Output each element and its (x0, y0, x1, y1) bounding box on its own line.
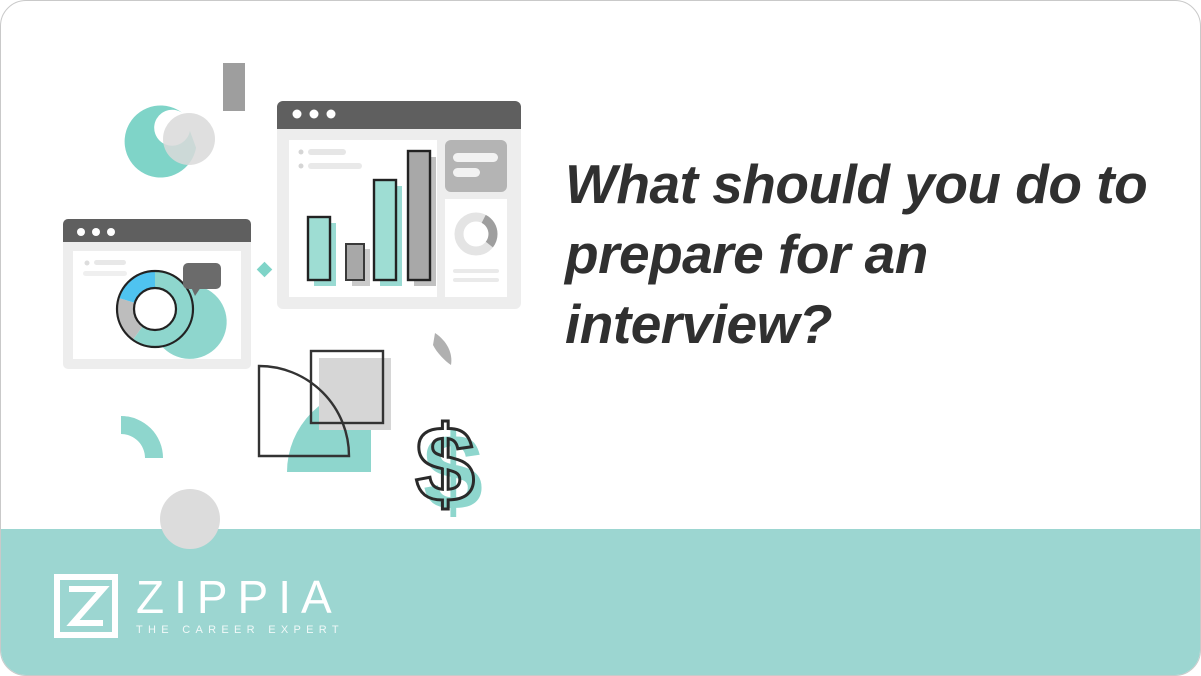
quarter-circle-and-square (259, 351, 391, 472)
square-fill (319, 358, 391, 430)
legend-marker (85, 261, 90, 266)
zippia-logo: ZIPPIA THE CAREER EXPERT (53, 573, 344, 639)
page-title: What should you do to prepare for an int… (565, 149, 1165, 359)
window-dot (293, 110, 302, 119)
window-dot (107, 228, 115, 236)
title-bar (63, 219, 251, 242)
gray-vertical-bar (223, 63, 245, 111)
legend-marker (299, 150, 304, 155)
logo-wordmark: ZIPPIA (136, 574, 344, 620)
bar-4 (408, 151, 430, 280)
zippia-z-mark (53, 573, 119, 639)
bar-2 (346, 244, 364, 280)
browser-window-large (277, 101, 521, 309)
dollar-sign: $ $ (415, 403, 483, 532)
teal-quarter-arc (121, 416, 163, 458)
promo-card: $ $ What should you do to prepare for an… (0, 0, 1201, 676)
svg-text:$: $ (415, 403, 475, 524)
logo-tagline: THE CAREER EXPERT (136, 625, 344, 636)
gray-petal-wedge (433, 333, 451, 365)
gray-circle-small (163, 113, 215, 165)
sidebar-info-card (445, 140, 507, 192)
bar-3 (374, 180, 396, 280)
legend-marker (299, 164, 304, 169)
browser-window-small (63, 219, 251, 369)
window-dot (77, 228, 85, 236)
gray-circle-large (160, 489, 220, 549)
logo-text: ZIPPIA THE CAREER EXPERT (136, 574, 344, 638)
window-dot (310, 110, 319, 119)
analytics-dashboard-illustration: $ $ (1, 1, 561, 561)
teal-diamond (257, 262, 273, 278)
bar-1 (308, 217, 330, 280)
window-dot (92, 228, 100, 236)
window-dot (327, 110, 336, 119)
